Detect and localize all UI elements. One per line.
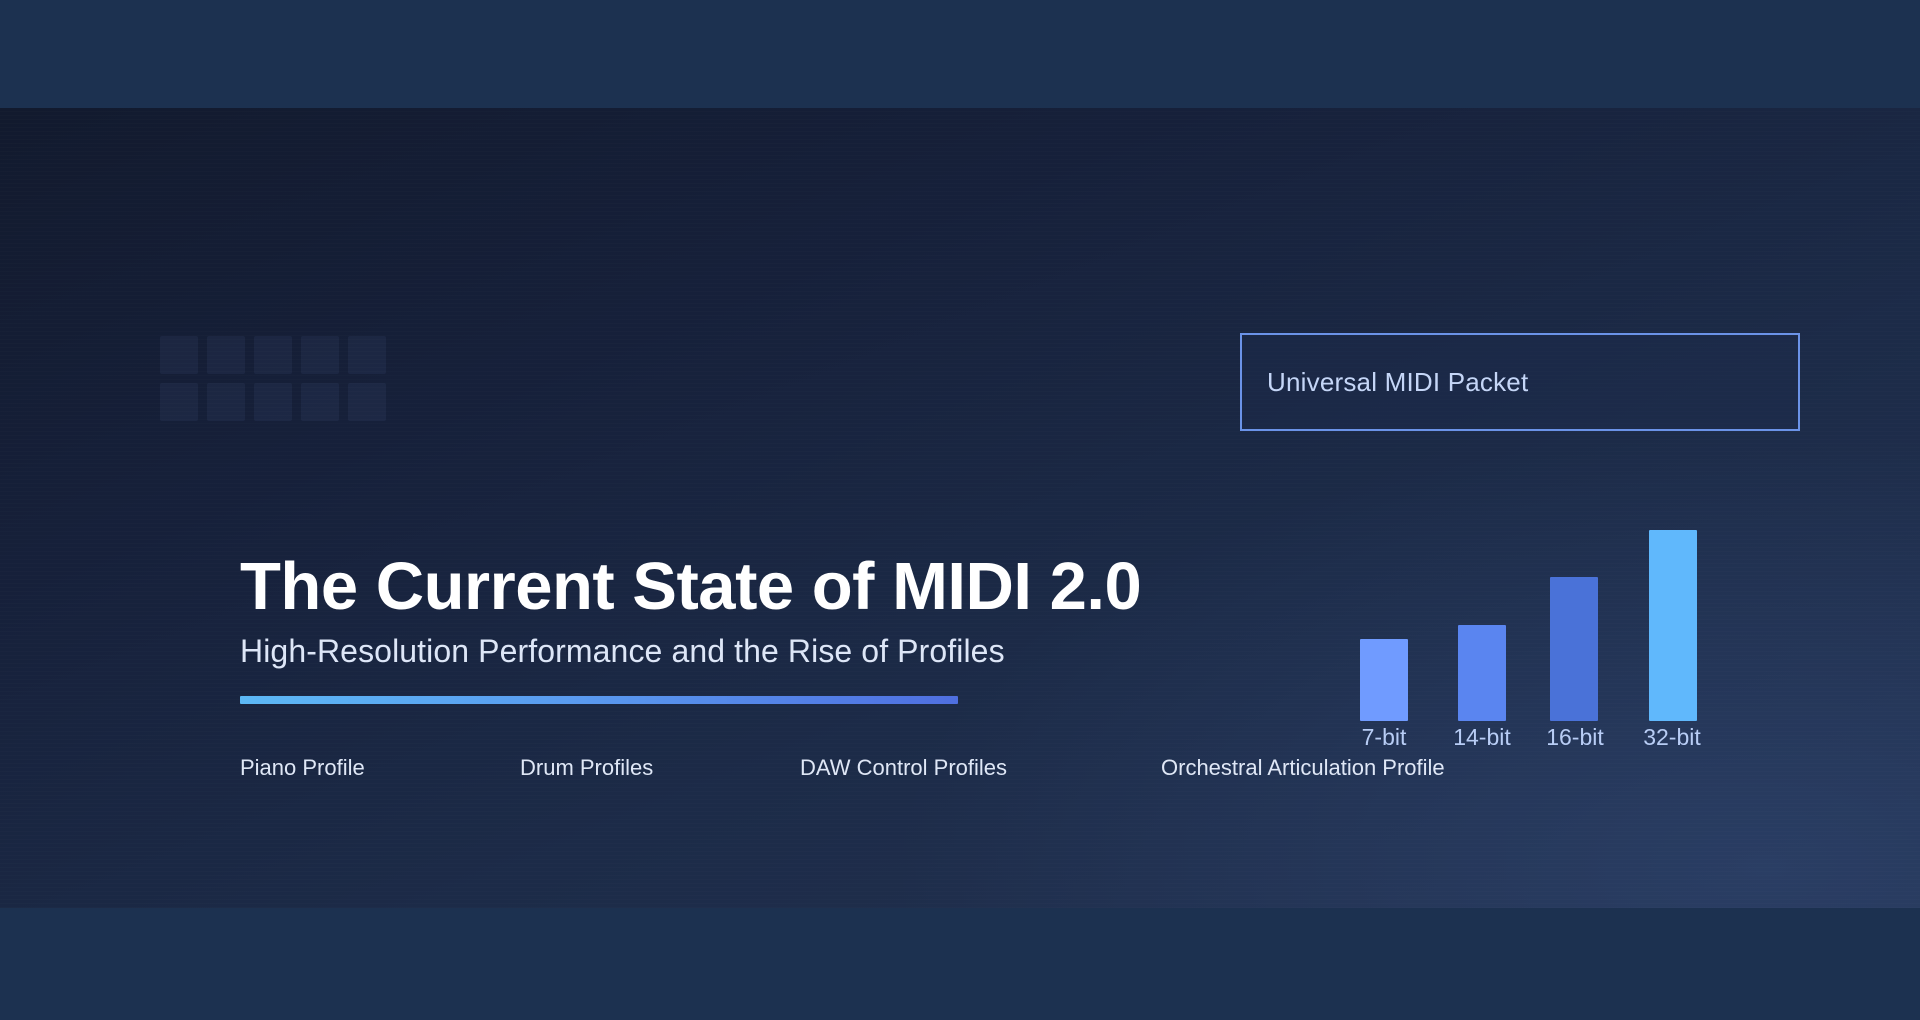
grid-cell xyxy=(207,336,245,374)
slide-canvas: Universal MIDI Packet The Current State … xyxy=(0,0,1920,1020)
grid-cell xyxy=(301,383,339,421)
universal-midi-packet-callout[interactable]: Universal MIDI Packet xyxy=(1240,333,1800,431)
accent-divider xyxy=(240,696,958,704)
profile-list: Piano Profile Drum Profiles DAW Control … xyxy=(240,755,1450,785)
chart-bar xyxy=(1649,530,1697,721)
chart-tick-label: 7-bit xyxy=(1340,724,1428,751)
grid-cell xyxy=(348,336,386,374)
bottom-margin-band xyxy=(0,908,1920,1020)
resolution-bar-chart: 7-bit 14-bit 16-bit 32-bit xyxy=(1352,518,1712,763)
grid-cell xyxy=(348,383,386,421)
universal-midi-packet-label: Universal MIDI Packet xyxy=(1267,367,1528,398)
chart-tick-label: 32-bit xyxy=(1624,724,1720,751)
page-title: The Current State of MIDI 2.0 xyxy=(240,552,1141,622)
chart-bar xyxy=(1360,639,1408,721)
grid-cell xyxy=(254,383,292,421)
hero-panel: Universal MIDI Packet The Current State … xyxy=(0,108,1920,908)
profile-item-daw-control: DAW Control Profiles xyxy=(800,755,1007,781)
grid-cell xyxy=(254,336,292,374)
chart-tick-label: 14-bit xyxy=(1435,724,1529,751)
grid-cell xyxy=(301,336,339,374)
square-grid-decoration-icon xyxy=(160,336,386,421)
top-margin-band xyxy=(0,0,1920,108)
profile-item-piano: Piano Profile xyxy=(240,755,365,781)
grid-cell xyxy=(160,383,198,421)
chart-plot-area xyxy=(1352,518,1712,721)
chart-x-axis-labels: 7-bit 14-bit 16-bit 32-bit xyxy=(1352,724,1712,754)
grid-cell xyxy=(207,383,245,421)
chart-tick-label: 16-bit xyxy=(1530,724,1620,751)
title-block: The Current State of MIDI 2.0 High-Resol… xyxy=(240,552,1141,704)
chart-bar xyxy=(1458,625,1506,721)
chart-bar xyxy=(1550,577,1598,721)
profile-item-drum: Drum Profiles xyxy=(520,755,653,781)
page-subtitle: High-Resolution Performance and the Rise… xyxy=(240,633,1141,670)
grid-cell xyxy=(160,336,198,374)
